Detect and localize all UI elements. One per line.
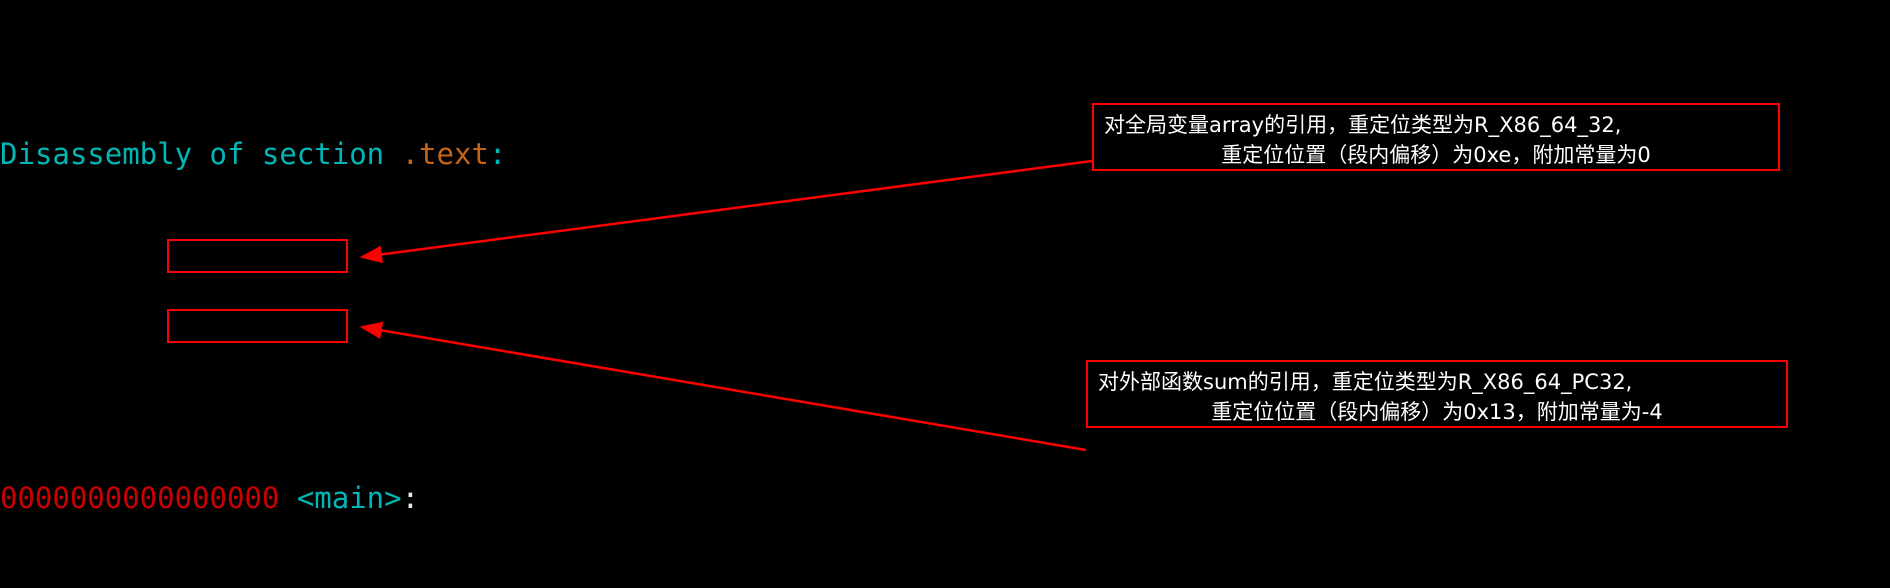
symbol-header-line: 0000000000000000 <main>: [0, 477, 1890, 520]
annotation-line-1: 对全局变量array的引用，重定位类型为R_X86_64_32, [1104, 110, 1768, 140]
annotation-box-extern-sum: 对外部函数sum的引用，重定位类型为R_X86_64_PC32, 重定位位置（段… [1086, 360, 1788, 428]
disassembly-header-suffix: : [489, 137, 506, 171]
symbol-gap [279, 481, 296, 515]
blank-line-1 [0, 305, 1890, 348]
disassembly-terminal-screenshot: Disassembly of section .text: 0000000000… [0, 0, 1890, 588]
symbol-colon: : [402, 481, 419, 515]
symbol-name: <main> [297, 481, 402, 515]
disassembly-header-prefix: Disassembly of section [0, 137, 402, 171]
terminal-output: Disassembly of section .text: 0000000000… [0, 0, 1890, 588]
disassembly-section-name: .text [402, 137, 489, 171]
annotation-line-2: 重定位位置（段内偏移）为0xe，附加常量为0 [1104, 140, 1768, 170]
annotation-line-1: 对外部函数sum的引用，重定位类型为R_X86_64_PC32, [1098, 367, 1776, 397]
annotation-box-global-array: 对全局变量array的引用，重定位类型为R_X86_64_32, 重定位位置（段… [1092, 103, 1780, 171]
symbol-address: 0000000000000000 [0, 481, 279, 515]
annotation-line-2: 重定位位置（段内偏移）为0x13，附加常量为-4 [1098, 397, 1776, 427]
